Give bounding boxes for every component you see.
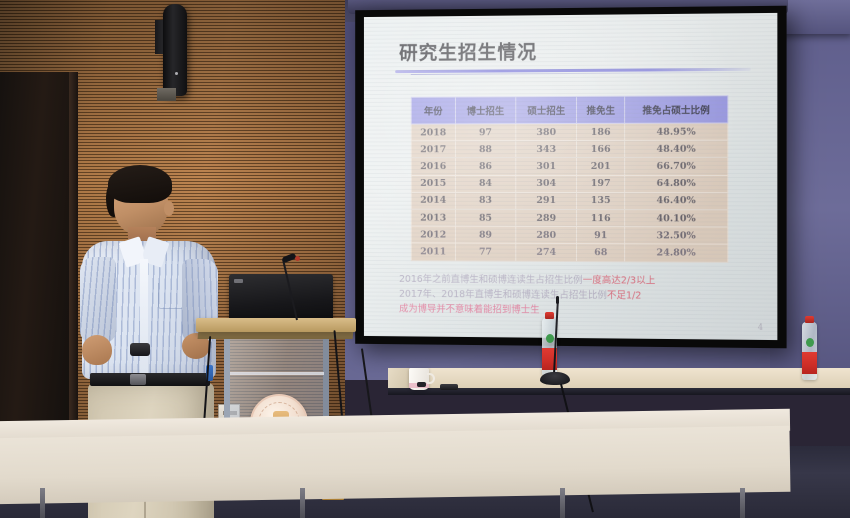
slide-notes: 2016年之前直博生和硕博连读生占招生比例一度高达2/3以上 2017年、201… xyxy=(399,271,759,319)
projection-screen-surface: 研究生招生情况 年份 博士招生 硕士招生 推免生 推免占硕士比例 2018973… xyxy=(364,13,777,340)
table-cell-博士招生: 77 xyxy=(455,243,516,260)
presentation-clicker[interactable] xyxy=(130,343,150,356)
col-header-year: 年份 xyxy=(411,97,455,124)
table-cell-推免占硕士比例: 48.40% xyxy=(625,140,728,157)
wall-speaker-icon xyxy=(163,4,187,96)
table-cell-硕士招生: 274 xyxy=(516,244,577,261)
table-cell-年份: 2018 xyxy=(411,124,455,141)
col-header-phd: 博士招生 xyxy=(455,97,516,124)
bottle-cap-left xyxy=(545,312,554,319)
laptop-screen[interactable] xyxy=(229,274,333,322)
table-cell-年份: 2013 xyxy=(411,209,455,226)
table-cell-博士招生: 89 xyxy=(455,226,516,243)
table-cell-推免生: 166 xyxy=(577,141,625,158)
presenter-hand-left xyxy=(82,335,112,365)
table-cell-年份: 2012 xyxy=(411,226,455,243)
bottle-label-right xyxy=(802,352,817,374)
table-cell-年份: 2015 xyxy=(411,175,455,192)
presenter-belt xyxy=(90,373,210,386)
table-row: 20138528911640.10% xyxy=(411,209,728,227)
table-cell-博士招生: 88 xyxy=(455,141,516,158)
note-line-3: 成为博导并不意味着能招到博士生 xyxy=(399,301,759,319)
table-cell-推免生: 197 xyxy=(577,175,625,192)
table-cell-推免生: 91 xyxy=(577,227,625,244)
table-cell-推免占硕士比例: 40.10% xyxy=(625,210,728,228)
table-cell-博士招生: 85 xyxy=(455,209,516,226)
table-cell-推免生: 68 xyxy=(577,244,625,261)
front-desk-leg-2 xyxy=(300,488,305,518)
table-cell-硕士招生: 301 xyxy=(516,158,577,175)
belt-buckle xyxy=(130,374,146,385)
front-desk-front-panel xyxy=(0,426,790,505)
col-header-recommend: 推免生 xyxy=(577,96,625,123)
desk-remote[interactable] xyxy=(440,384,458,390)
presenter-hair xyxy=(108,165,172,203)
speaker-mount xyxy=(157,88,176,101)
note-1-plain: 2016年之前直博生和硕博连读生占招生比例 xyxy=(399,273,583,285)
note-2-emphasis: 不足1/2 xyxy=(607,290,641,301)
table-cell-硕士招生: 291 xyxy=(516,192,577,209)
podium-surface xyxy=(196,318,356,332)
table-cell-推免占硕士比例: 46.40% xyxy=(625,192,728,209)
table-cell-博士招生: 97 xyxy=(455,124,516,141)
presenter-ear xyxy=(164,201,174,216)
table-cell-博士招生: 86 xyxy=(455,158,516,175)
table-cell-年份: 2014 xyxy=(411,192,455,209)
bottle-cap-right xyxy=(805,316,814,323)
table-cell-推免生: 135 xyxy=(577,192,625,209)
front-desk-leg-4 xyxy=(740,488,745,518)
speaker-led-icon xyxy=(175,72,178,75)
table-row: 2011772746824.80% xyxy=(411,243,728,262)
table-cell-硕士招生: 343 xyxy=(516,141,577,158)
slide: 研究生招生情况 年份 博士招生 硕士招生 推免生 推免占硕士比例 2018973… xyxy=(364,13,777,340)
podium-microphone-tip xyxy=(295,256,300,261)
table-header-row: 年份 博士招生 硕士招生 推免生 推免占硕士比例 xyxy=(411,96,728,124)
table-cell-硕士招生: 289 xyxy=(516,209,577,226)
desk-small-device[interactable] xyxy=(417,382,426,387)
table-cell-博士招生: 84 xyxy=(455,175,516,192)
desk-microphone-base[interactable] xyxy=(540,372,570,385)
shirt-placket xyxy=(140,259,148,377)
desk-microphone-head-icon[interactable] xyxy=(556,296,559,304)
photo-scene: 研究生招生情况 年份 博士招生 硕士招生 推免生 推免占硕士比例 2018973… xyxy=(0,0,850,518)
slide-number: 4 xyxy=(758,323,763,332)
table-cell-硕士招生: 280 xyxy=(516,226,577,243)
table-cell-推免占硕士比例: 24.80% xyxy=(625,244,728,262)
table-cell-博士招生: 83 xyxy=(455,192,516,209)
col-header-ratio: 推免占硕士比例 xyxy=(625,96,728,124)
note-2-plain: 2017年、2018年直博生和硕博连读生占招生比例 xyxy=(399,288,607,300)
note-1-emphasis: 一度高达2/3以上 xyxy=(583,275,656,286)
table-cell-年份: 2011 xyxy=(411,243,455,260)
table-row: 20189738018648.95% xyxy=(411,123,728,141)
presenter-arm-left xyxy=(80,257,116,343)
table-row: 2012892809132.50% xyxy=(411,226,728,244)
table-cell-硕士招生: 380 xyxy=(516,123,577,140)
table-cell-推免占硕士比例: 66.70% xyxy=(625,158,728,175)
table-cell-推免占硕士比例: 48.95% xyxy=(625,123,728,141)
laptop-logo-icon xyxy=(234,279,243,283)
table-body: 20189738018648.95%20178834316648.40%2016… xyxy=(411,123,728,262)
table-cell-推免生: 201 xyxy=(577,158,625,175)
front-desk-leg-1 xyxy=(40,488,45,518)
table-cell-推免占硕士比例: 32.50% xyxy=(625,227,728,245)
table-row: 20148329113546.40% xyxy=(411,192,728,210)
table-row: 20158430419764.80% xyxy=(411,175,728,192)
table-cell-推免占硕士比例: 64.80% xyxy=(625,175,728,192)
front-desk-leg-3 xyxy=(560,488,565,518)
enrollment-table: 年份 博士招生 硕士招生 推免生 推免占硕士比例 20189738018648.… xyxy=(411,95,729,262)
table-row: 20168630120166.70% xyxy=(411,158,728,175)
table-cell-硕士招生: 304 xyxy=(516,175,577,192)
water-bottle-right[interactable] xyxy=(802,322,817,380)
podium-panel-line xyxy=(230,372,324,375)
table-row: 20178834316648.40% xyxy=(411,140,728,158)
table-cell-推免生: 116 xyxy=(577,209,625,226)
projection-screen: 研究生招生情况 年份 博士招生 硕士招生 推免生 推免占硕士比例 2018973… xyxy=(355,6,786,349)
col-header-master: 硕士招生 xyxy=(516,96,577,123)
slide-title: 研究生招生情况 xyxy=(399,35,759,65)
table-cell-年份: 2016 xyxy=(411,158,455,175)
table-cell-年份: 2017 xyxy=(411,141,455,158)
table-cell-推免生: 186 xyxy=(577,123,625,140)
